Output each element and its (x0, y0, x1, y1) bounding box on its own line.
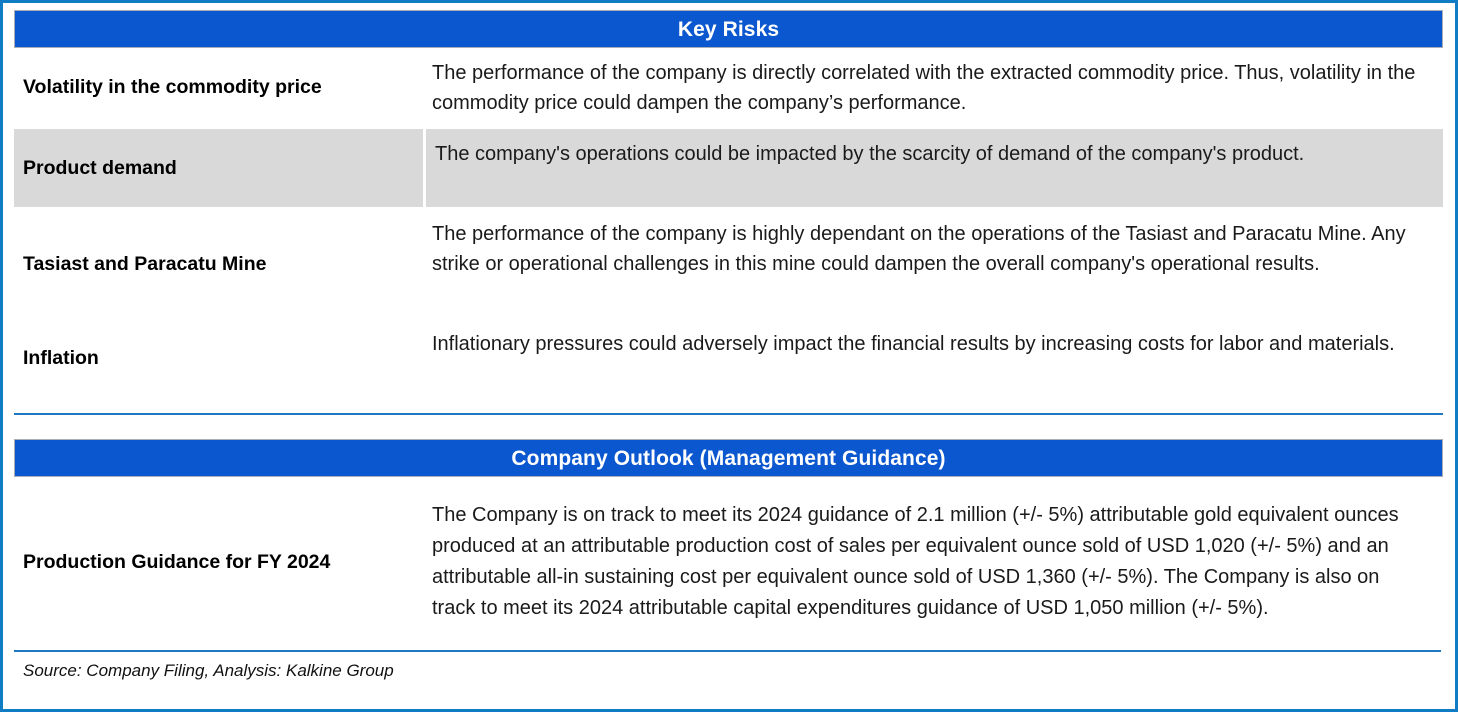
risk-description: The performance of the company is highly… (423, 209, 1443, 319)
table-row: Tasiast and Paracatu Mine The performanc… (14, 209, 1443, 319)
outlook-description: The Company is on track to meet its 2024… (423, 494, 1443, 630)
spacer (14, 477, 1443, 487)
company-outlook-banner: Company Outlook (Management Guidance) (14, 439, 1443, 477)
spacer (14, 415, 1443, 439)
risk-description: The performance of the company is direct… (423, 48, 1443, 127)
spacer (14, 637, 1443, 650)
source-note: Source: Company Filing, Analysis: Kalkin… (14, 652, 1443, 681)
report-table-figure: Key Risks Volatility in the commodity pr… (0, 0, 1458, 712)
risk-label: Product demand (14, 129, 423, 207)
risk-label: Inflation (14, 319, 423, 397)
key-risks-banner-title: Key Risks (678, 19, 779, 40)
table-row: Volatility in the commodity price The pe… (14, 48, 1443, 127)
outlook-label: Production Guidance for FY 2024 (14, 551, 423, 574)
key-risks-banner: Key Risks (14, 10, 1443, 48)
table-row: Product demand The company's operations … (14, 129, 1443, 207)
figure-inner: Key Risks Volatility in the commodity pr… (14, 10, 1443, 700)
table-row: Production Guidance for FY 2024 The Comp… (14, 487, 1443, 637)
spacer (14, 397, 1443, 413)
risk-description: The company's operations could be impact… (426, 129, 1443, 207)
key-risks-rows: Volatility in the commodity price The pe… (14, 48, 1443, 397)
risk-description: Inflationary pressures could adversely i… (423, 319, 1443, 397)
risk-label: Volatility in the commodity price (14, 48, 423, 127)
table-row: Inflation Inflationary pressures could a… (14, 319, 1443, 397)
company-outlook-banner-title: Company Outlook (Management Guidance) (511, 448, 945, 469)
risk-label: Tasiast and Paracatu Mine (14, 209, 423, 319)
